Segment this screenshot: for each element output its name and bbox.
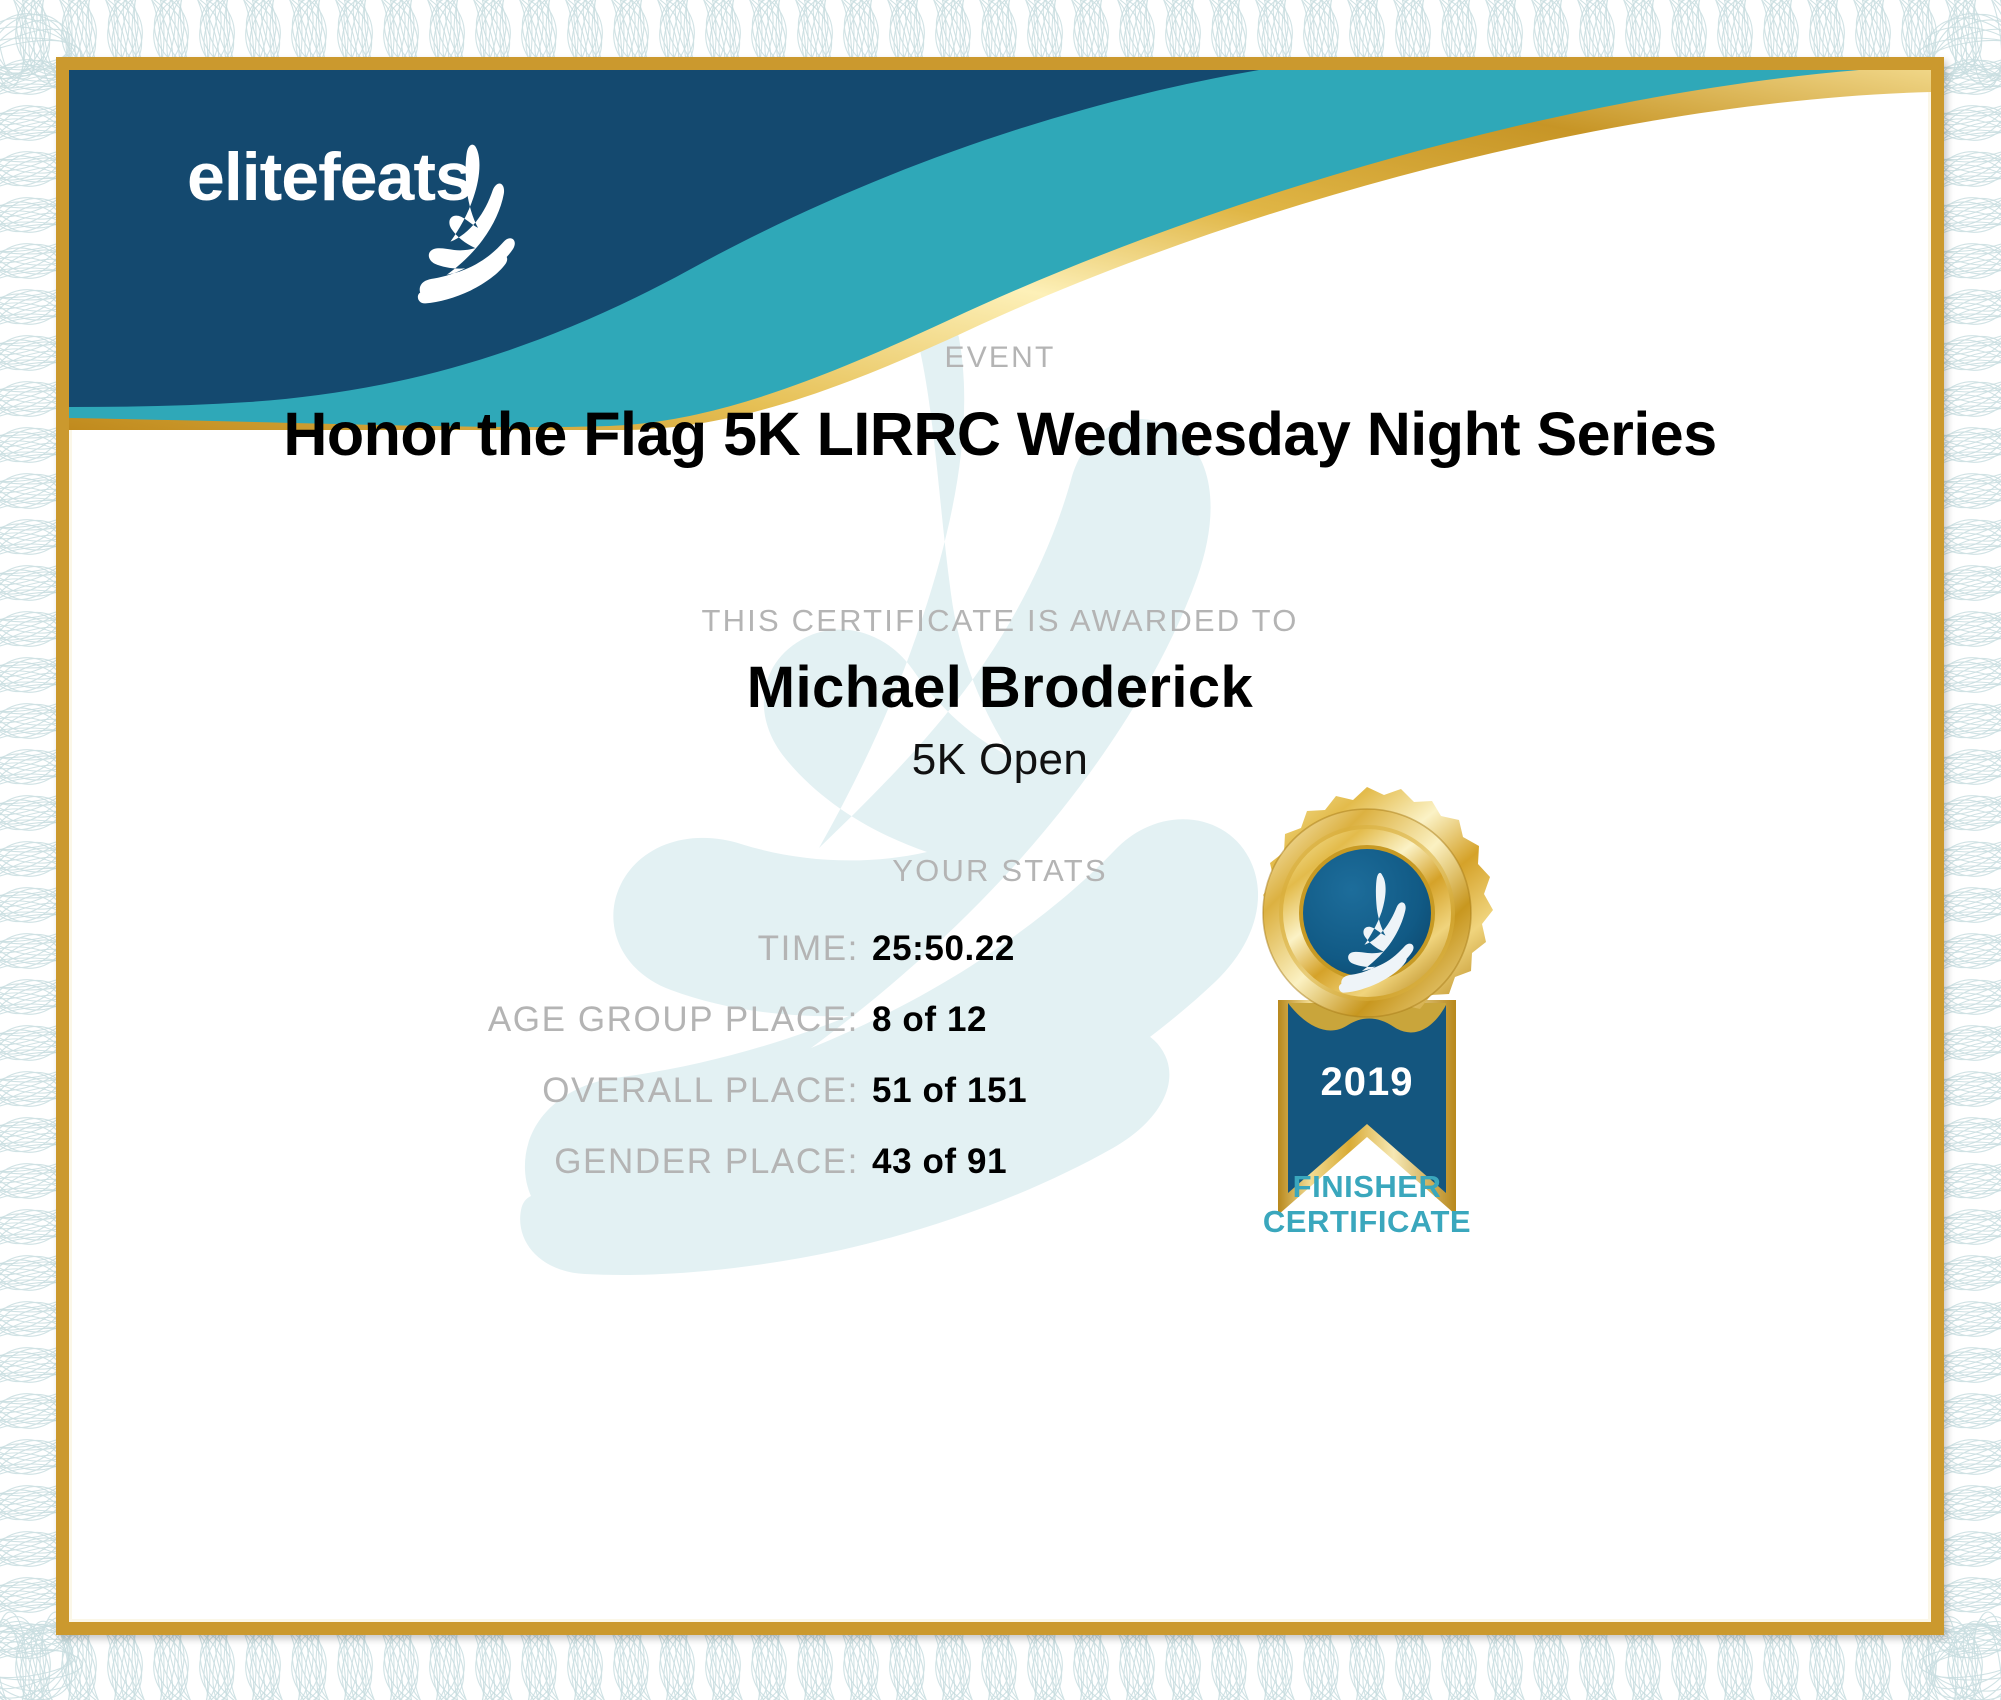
certificate-content: EVENT Honor the Flag 5K LIRRC Wednesday … bbox=[69, 70, 1931, 1622]
stat-row-gender-place: GENDER PLACE: 43 of 91 bbox=[69, 1142, 1931, 1200]
stat-label-age-group-place: AGE GROUP PLACE: bbox=[69, 1000, 872, 1040]
seal-caption: FINISHER CERTIFICATE bbox=[1212, 1170, 1522, 1239]
stat-label-overall-place: OVERALL PLACE: bbox=[69, 1071, 872, 1111]
seal-caption-line-1: FINISHER bbox=[1212, 1170, 1522, 1205]
seal-caption-line-2: CERTIFICATE bbox=[1212, 1205, 1522, 1240]
event-label: EVENT bbox=[69, 341, 1931, 375]
certificate-card: elitefeats EVENT Honor the Flag 5K LIRRC… bbox=[69, 70, 1931, 1622]
certificate-frame: elitefeats EVENT Honor the Flag 5K LIRRC… bbox=[56, 57, 1944, 1635]
stat-value-gender-place: 43 of 91 bbox=[872, 1142, 1007, 1182]
stat-value-time: 25:50.22 bbox=[872, 929, 1015, 969]
stat-row-time: TIME: 25:50.22 bbox=[69, 929, 1931, 987]
seal-year: 2019 bbox=[1321, 1060, 1414, 1104]
recipient-name: Michael Broderick bbox=[69, 654, 1931, 721]
stat-row-overall-place: OVERALL PLACE: 51 of 151 bbox=[69, 1071, 1931, 1129]
division-name: 5K Open bbox=[69, 735, 1931, 785]
awarded-to-label: THIS CERTIFICATE IS AWARDED TO bbox=[69, 603, 1931, 639]
seal-medal bbox=[1263, 787, 1493, 1017]
event-title: Honor the Flag 5K LIRRC Wednesday Night … bbox=[69, 399, 1931, 469]
your-stats-label: YOUR STATS bbox=[69, 853, 1931, 889]
stat-value-overall-place: 51 of 151 bbox=[872, 1071, 1027, 1111]
stat-label-time: TIME: bbox=[69, 929, 872, 969]
certificate-page: elitefeats EVENT Honor the Flag 5K LIRRC… bbox=[0, 0, 2001, 1700]
stat-label-gender-place: GENDER PLACE: bbox=[69, 1142, 872, 1182]
stats-list: TIME: 25:50.22 AGE GROUP PLACE: 8 of 12 … bbox=[69, 929, 1931, 1213]
stat-row-age-group-place: AGE GROUP PLACE: 8 of 12 bbox=[69, 1000, 1931, 1058]
stat-value-age-group-place: 8 of 12 bbox=[872, 1000, 987, 1040]
